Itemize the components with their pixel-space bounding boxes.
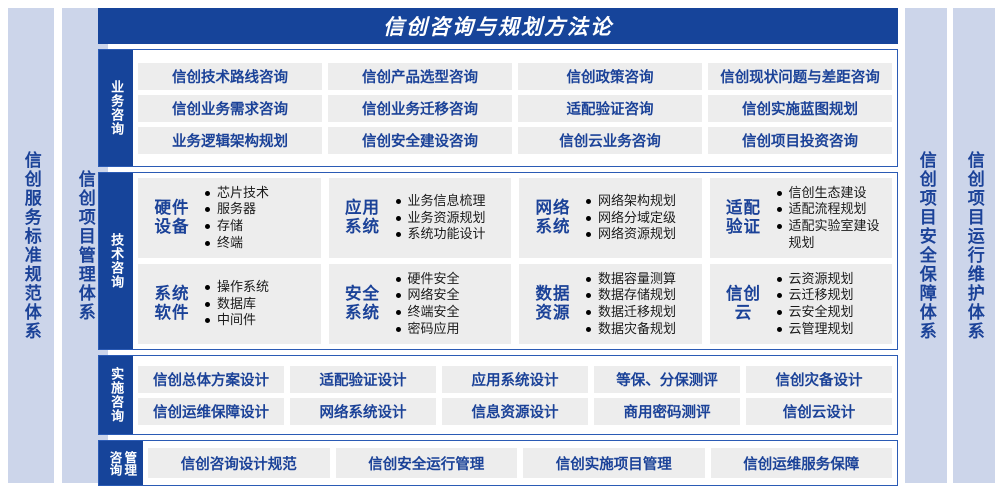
management-row: 信创咨询设计规范 信创安全运行管理 信创实施项目管理 信创运维服务保障: [148, 448, 892, 478]
tech-item: 数据容量测算: [585, 271, 696, 288]
tech-item: 网络安全: [395, 287, 506, 304]
business-cell[interactable]: 信创技术路线咨询: [138, 63, 322, 90]
tech-item: 操作系统: [204, 279, 315, 296]
section-consulting-management: 咨询 管理 信创咨询设计规范 信创安全运行管理 信创实施项目管理 信创运维服务保…: [98, 440, 898, 486]
page-title: 信创咨询与规划方法论: [98, 8, 898, 44]
tech-item: 数据灾备规划: [585, 321, 696, 338]
tech-item: 终端安全: [395, 304, 506, 321]
tech-card-title: 适配验证: [718, 199, 770, 237]
tech-card-hardware[interactable]: 硬件设备 芯片技术 服务器 存储 终端: [138, 178, 321, 258]
tech-card-items: 芯片技术 服务器 存储 终端: [204, 185, 315, 252]
implementation-row: 信创总体方案设计 适配验证设计 应用系统设计 等保、分保测评 信创灾备设计: [138, 366, 892, 393]
tech-card-data-resource[interactable]: 数据资源 数据容量测算 数据存储规划 数据迁移规划 数据灾备规划: [519, 264, 702, 344]
tech-card-items: 网络架构规划 网络分域定级 网络资源规划: [585, 193, 696, 243]
tech-card-adaptation[interactable]: 适配验证 信创生态建设 适配流程规划 适配实验室建设规划: [710, 178, 893, 258]
business-cell[interactable]: 适配验证咨询: [518, 95, 702, 122]
tech-card-items: 业务信息梳理 业务资源规划 系统功能设计: [395, 193, 506, 243]
pillar-project-operation: 信创项目运行维护体系: [953, 8, 995, 483]
technical-row: 系统软件 操作系统 数据库 中间件 安全系统 硬件安全 网络安全 终端安全: [138, 264, 892, 344]
tech-item: 云管理规划: [776, 321, 887, 338]
implementation-cell[interactable]: 信创总体方案设计: [138, 366, 284, 393]
management-cell[interactable]: 信创运维服务保障: [711, 448, 893, 478]
business-cell[interactable]: 信创产品选型咨询: [328, 63, 512, 90]
tech-item: 云资源规划: [776, 271, 887, 288]
implementation-cell[interactable]: 适配验证设计: [290, 366, 436, 393]
business-cell[interactable]: 信创安全建设咨询: [328, 127, 512, 154]
tech-item: 终端: [204, 235, 315, 252]
business-cell[interactable]: 信创云业务咨询: [518, 127, 702, 154]
tech-card-title: 网络系统: [527, 199, 579, 237]
pillar-service-standard: 信创服务标准规范体系: [8, 8, 54, 483]
tech-card-title: 硬件设备: [146, 199, 198, 237]
section-management-label: 咨询 管理: [99, 441, 143, 485]
business-cell[interactable]: 信创政策咨询: [518, 63, 702, 90]
business-row: 信创业务需求咨询 信创业务迁移咨询 适配验证咨询 信创实施蓝图规划: [138, 95, 892, 122]
tech-item: 数据存储规划: [585, 287, 696, 304]
tech-card-items: 云资源规划 云迁移规划 云安全规划 云管理规划: [776, 271, 887, 338]
tech-item: 业务资源规划: [395, 210, 506, 227]
implementation-row: 信创运维保障设计 网络系统设计 信息资源设计 商用密码测评 信创云设计: [138, 398, 892, 425]
tech-item: 中间件: [204, 312, 315, 329]
tech-item: 密码应用: [395, 321, 506, 338]
management-cell[interactable]: 信创安全运行管理: [336, 448, 518, 478]
section-business-consulting: 业务咨询 信创技术路线咨询 信创产品选型咨询 信创政策咨询 信创现状问题与差距咨…: [98, 49, 898, 167]
implementation-cell[interactable]: 信创云设计: [746, 398, 892, 425]
section-implementation-consulting: 实施咨询 信创总体方案设计 适配验证设计 应用系统设计 等保、分保测评 信创灾备…: [98, 355, 898, 435]
tech-card-application[interactable]: 应用系统 业务信息梳理 业务资源规划 系统功能设计: [329, 178, 512, 258]
tech-card-items: 数据容量测算 数据存储规划 数据迁移规划 数据灾备规划: [585, 271, 696, 338]
pillar-project-security-label: 信创项目安全保障体系: [916, 151, 936, 341]
tech-item: 云迁移规划: [776, 287, 887, 304]
section-business-body: 信创技术路线咨询 信创产品选型咨询 信创政策咨询 信创现状问题与差距咨询 信创业…: [133, 50, 897, 166]
section-business-label: 业务咨询: [99, 50, 133, 166]
tech-item: 服务器: [204, 201, 315, 218]
section-technical-label: 技术咨询: [99, 173, 133, 349]
pillar-project-operation-label: 信创项目运行维护体系: [964, 151, 984, 341]
tech-card-security[interactable]: 安全系统 硬件安全 网络安全 终端安全 密码应用: [329, 264, 512, 344]
tech-card-title: 安全系统: [337, 285, 389, 323]
business-cell[interactable]: 信创业务需求咨询: [138, 95, 322, 122]
technical-row: 硬件设备 芯片技术 服务器 存储 终端 应用系统 业务信息梳理 业务资源规划: [138, 178, 892, 258]
implementation-cell[interactable]: 等保、分保测评: [594, 366, 740, 393]
business-cell[interactable]: 信创项目投资咨询: [708, 127, 892, 154]
section-implementation-label: 实施咨询: [99, 356, 133, 434]
tech-item: 业务信息梳理: [395, 193, 506, 210]
section-management-label-a: 咨询: [107, 451, 121, 476]
business-cell[interactable]: 业务逻辑架构规划: [138, 127, 322, 154]
business-row: 信创技术路线咨询 信创产品选型咨询 信创政策咨询 信创现状问题与差距咨询: [138, 63, 892, 90]
implementation-cell[interactable]: 信创灾备设计: [746, 366, 892, 393]
implementation-cell[interactable]: 应用系统设计: [442, 366, 588, 393]
tech-card-system-software[interactable]: 系统软件 操作系统 数据库 中间件: [138, 264, 321, 344]
pillar-service-standard-label: 信创服务标准规范体系: [21, 151, 41, 341]
business-cell[interactable]: 信创业务迁移咨询: [328, 95, 512, 122]
pillar-project-security: 信创项目安全保障体系: [905, 8, 947, 483]
diagram-root: 信创服务标准规范体系 信创项目管理体系 信创项目安全保障体系 信创项目运行维护体…: [0, 0, 1000, 496]
tech-card-items: 硬件安全 网络安全 终端安全 密码应用: [395, 271, 506, 338]
tech-item: 网络架构规划: [585, 193, 696, 210]
implementation-cell[interactable]: 信息资源设计: [442, 398, 588, 425]
tech-item: 硬件安全: [395, 271, 506, 288]
tech-item: 系统功能设计: [395, 226, 506, 243]
tech-card-items: 操作系统 数据库 中间件: [204, 279, 315, 329]
tech-item: 网络分域定级: [585, 210, 696, 227]
section-implementation-body: 信创总体方案设计 适配验证设计 应用系统设计 等保、分保测评 信创灾备设计 信创…: [133, 356, 897, 434]
management-cell[interactable]: 信创咨询设计规范: [148, 448, 330, 478]
tech-card-network[interactable]: 网络系统 网络架构规划 网络分域定级 网络资源规划: [519, 178, 702, 258]
section-management-body: 信创咨询设计规范 信创安全运行管理 信创实施项目管理 信创运维服务保障: [143, 441, 897, 485]
pillar-project-management-label: 信创项目管理体系: [75, 170, 95, 322]
business-row: 业务逻辑架构规划 信创安全建设咨询 信创云业务咨询 信创项目投资咨询: [138, 127, 892, 154]
implementation-cell[interactable]: 信创运维保障设计: [138, 398, 284, 425]
tech-card-title: 应用系统: [337, 199, 389, 237]
tech-item: 数据迁移规划: [585, 304, 696, 321]
tech-item: 网络资源规划: [585, 226, 696, 243]
business-cell[interactable]: 信创现状问题与差距咨询: [708, 63, 892, 90]
tech-item: 存储: [204, 218, 315, 235]
implementation-cell[interactable]: 网络系统设计: [290, 398, 436, 425]
tech-item: 适配流程规划: [776, 201, 887, 218]
tech-item: 云安全规划: [776, 304, 887, 321]
section-technical-body: 硬件设备 芯片技术 服务器 存储 终端 应用系统 业务信息梳理 业务资源规划: [133, 173, 897, 349]
section-technical-consulting: 技术咨询 硬件设备 芯片技术 服务器 存储 终端 应用系统: [98, 172, 898, 350]
management-cell[interactable]: 信创实施项目管理: [523, 448, 705, 478]
tech-item: 适配实验室建设规划: [776, 218, 887, 251]
implementation-cell[interactable]: 商用密码测评: [594, 398, 740, 425]
tech-card-cloud[interactable]: 信创云 云资源规划 云迁移规划 云安全规划 云管理规划: [710, 264, 893, 344]
tech-card-title: 信创云: [718, 285, 770, 323]
tech-card-title: 数据资源: [527, 285, 579, 323]
tech-card-title: 系统软件: [146, 285, 198, 323]
tech-item: 芯片技术: [204, 185, 315, 202]
tech-card-items: 信创生态建设 适配流程规划 适配实验室建设规划: [776, 185, 887, 252]
section-management-label-b: 管理: [122, 451, 136, 476]
tech-item: 信创生态建设: [776, 185, 887, 202]
center-column: 信创咨询与规划方法论 业务咨询 信创技术路线咨询 信创产品选型咨询 信创政策咨询…: [98, 8, 898, 488]
tech-item: 数据库: [204, 296, 315, 313]
business-cell[interactable]: 信创实施蓝图规划: [708, 95, 892, 122]
